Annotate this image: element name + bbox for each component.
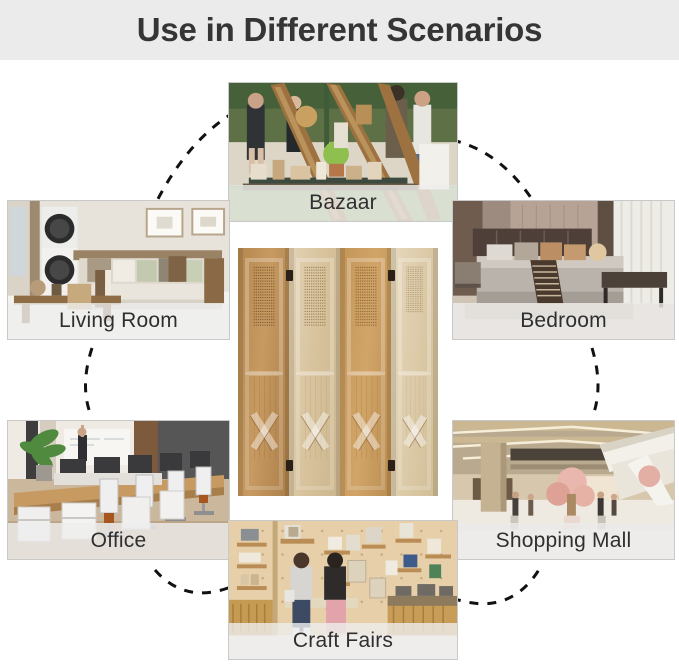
header-band: Use in Different Scenarios [0, 0, 679, 60]
hinge-bottom-left [286, 460, 293, 471]
scenario-label-bazaar: Bazaar [229, 185, 457, 221]
page-title: Use in Different Scenarios [137, 11, 543, 49]
panel-frame-1 [238, 248, 290, 496]
panel-frame-3 [340, 248, 392, 496]
scenario-card-shopping-mall[interactable]: Shopping Mall [452, 420, 675, 560]
scenario-card-office[interactable]: Office [7, 420, 230, 560]
panel-frame-4 [391, 248, 438, 496]
scenario-card-craft-fairs[interactable]: Craft Fairs [228, 520, 458, 660]
product-room-divider[interactable] [238, 248, 438, 496]
arc-craftfairs-shoppingmall [452, 568, 540, 604]
scenario-label-living-room: Living Room [8, 303, 229, 339]
hinge-top-right [388, 270, 395, 281]
panel-frame-2 [289, 248, 341, 496]
divider-panel-3[interactable] [340, 248, 392, 496]
divider-panel-1[interactable] [238, 248, 290, 496]
scenario-label-shopping-mall: Shopping Mall [453, 523, 674, 559]
divider-panel-4[interactable] [391, 248, 438, 496]
scenario-label-office: Office [8, 523, 229, 559]
arc-bedroom-shoppingmall [592, 348, 598, 418]
hinge-top-left [286, 270, 293, 281]
scenarios-infographic: Use in Different Scenarios [0, 0, 679, 664]
scenario-label-bedroom: Bedroom [453, 303, 674, 339]
scenario-card-bedroom[interactable]: Bedroom [452, 200, 675, 340]
scenario-label-craft-fairs: Craft Fairs [229, 623, 457, 659]
scenario-card-living-room[interactable]: Living Room [7, 200, 230, 340]
divider-panel-2[interactable] [289, 248, 341, 496]
arc-livingroom-office [86, 348, 93, 418]
hinge-bottom-right [388, 460, 395, 471]
scenario-card-bazaar[interactable]: Bazaar [228, 82, 458, 222]
